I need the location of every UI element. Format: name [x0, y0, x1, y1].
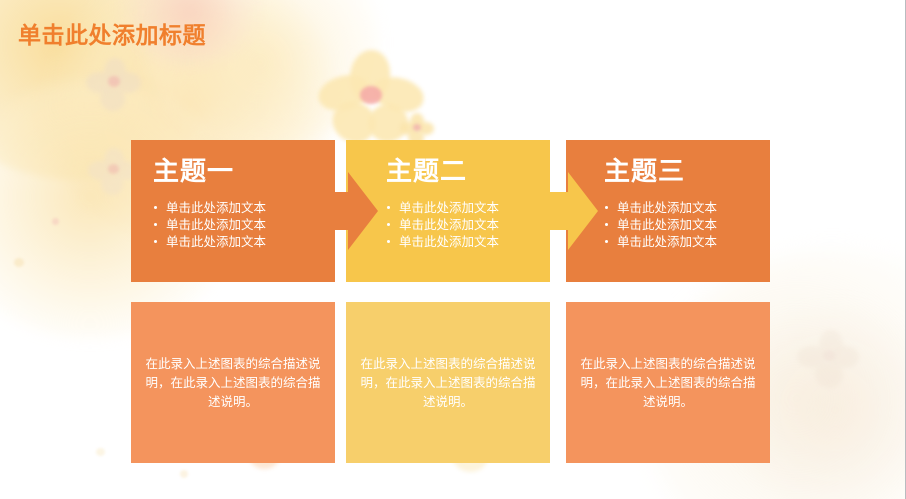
- list-item: 单击此处添加文本: [386, 216, 550, 233]
- list-item: 单击此处添加文本: [153, 199, 335, 216]
- speck-dot: [52, 218, 59, 225]
- list-item: 单击此处添加文本: [153, 216, 335, 233]
- speck-dot: [180, 470, 188, 478]
- presentation-slide: 单击此处添加标题 主题一 单击此处添加文本 单击此处添加文本 单击此处添加文本 …: [0, 0, 906, 499]
- arrow-right-icon: [542, 172, 598, 250]
- page-title: 单击此处添加标题: [18, 16, 206, 50]
- description-card-3[interactable]: 在此录入上述图表的综合描述说明，在此录入上述图表的综合描述说明。: [566, 302, 770, 463]
- flower-icon: [797, 330, 861, 390]
- topic-heading: 主题三: [604, 158, 770, 187]
- speck-dot: [96, 448, 105, 456]
- description-card-1[interactable]: 在此录入上述图表的综合描述说明，在此录入上述图表的综合描述说明。: [131, 302, 335, 463]
- arrow-right-icon: [322, 172, 378, 250]
- topic-bullet-list: 单击此处添加文本 单击此处添加文本 单击此处添加文本: [153, 199, 335, 250]
- speck-dot: [14, 258, 24, 267]
- list-item: 单击此处添加文本: [153, 233, 335, 250]
- description-text: 在此录入上述图表的综合描述说明，在此录入上述图表的综合描述说明。: [580, 354, 756, 411]
- flower-icon: [316, 50, 426, 150]
- list-item: 单击此处添加文本: [604, 216, 770, 233]
- topic-heading: 主题一: [153, 158, 335, 187]
- topic-bullet-list: 单击此处添加文本 单击此处添加文本 单击此处添加文本: [386, 199, 550, 250]
- flower-icon: [86, 58, 142, 112]
- description-text: 在此录入上述图表的综合描述说明，在此录入上述图表的综合描述说明。: [145, 354, 321, 411]
- list-item: 单击此处添加文本: [386, 233, 550, 250]
- topic-card-1[interactable]: 主题一 单击此处添加文本 单击此处添加文本 单击此处添加文本: [131, 140, 335, 282]
- list-item: 单击此处添加文本: [604, 233, 770, 250]
- list-item: 单击此处添加文本: [604, 199, 770, 216]
- description-card-2[interactable]: 在此录入上述图表的综合描述说明，在此录入上述图表的综合描述说明。: [346, 302, 550, 463]
- topic-bullet-list: 单击此处添加文本 单击此处添加文本 单击此处添加文本: [604, 199, 770, 250]
- topic-heading: 主题二: [386, 158, 550, 187]
- list-item: 单击此处添加文本: [386, 199, 550, 216]
- description-text: 在此录入上述图表的综合描述说明，在此录入上述图表的综合描述说明。: [360, 354, 536, 411]
